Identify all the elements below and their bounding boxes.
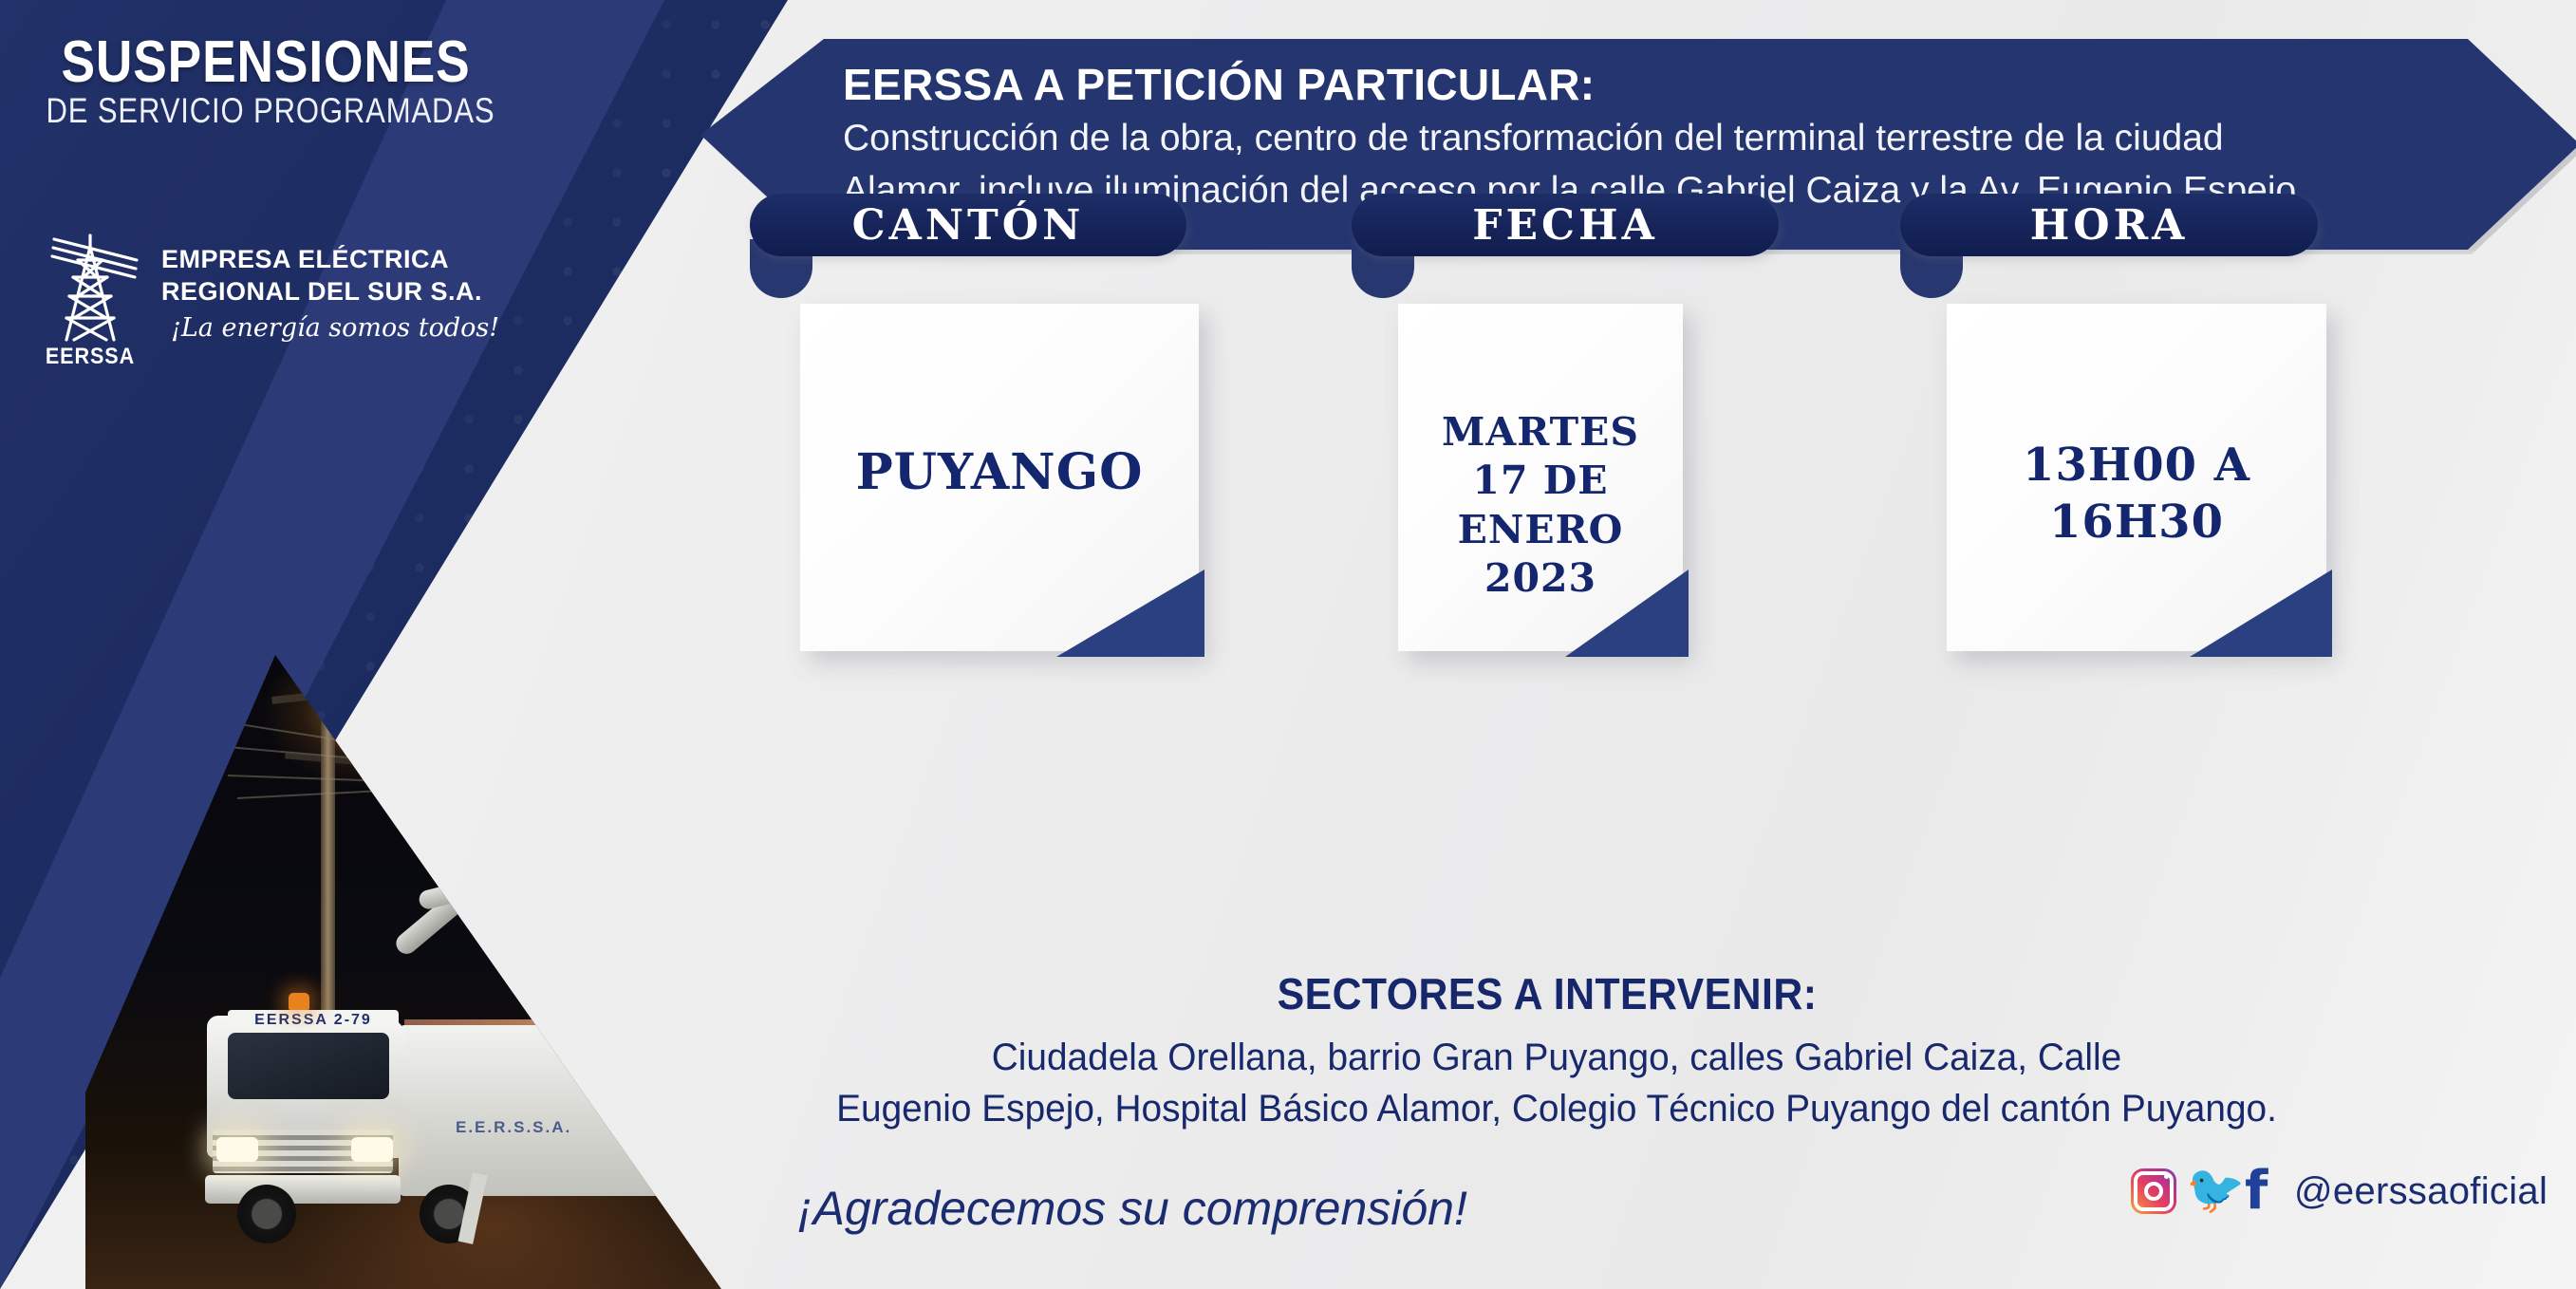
sectors-title: SECTORES A INTERVENIR: xyxy=(761,968,2332,1019)
truck-bumper xyxy=(205,1175,401,1204)
card-value-fecha: MARTES 17 DE ENERO 2023 xyxy=(1398,408,1683,603)
poster-canvas: E.E.R.S.S.A. EERSSA 2-79 SUSPENSIONES DE… xyxy=(0,0,2576,1289)
info-card-fecha: MARTES 17 DE ENERO 2023 xyxy=(1398,304,1683,651)
logo-company-line1: EMPRESA ELÉCTRICA xyxy=(161,245,449,274)
company-logo: EERSSA EMPRESA ELÉCTRICA REGIONAL DEL SU… xyxy=(28,228,503,380)
tab-hora[interactable]: HORA xyxy=(1900,194,2318,256)
helmet-icon xyxy=(528,765,554,780)
boom-arm-upper xyxy=(418,860,551,910)
social-links: 🐦 f @eerssaoficial xyxy=(2131,1168,2548,1215)
logo-mark-text: EERSSA xyxy=(38,344,142,370)
logo-tagline: ¡La energía somos todos! xyxy=(171,313,499,343)
banner-title: EERSSA A PETICIÓN PARTICULAR: xyxy=(843,58,2513,111)
info-card-hora: 13H00 A 16H30 xyxy=(1947,304,2326,651)
truck-wheel xyxy=(237,1185,296,1243)
tab-fecha[interactable]: FECHA xyxy=(1352,194,1779,256)
street-lamp-icon xyxy=(448,710,480,725)
tab-label-canton: CANTÓN xyxy=(750,201,1186,250)
tab-label-fecha: FECHA xyxy=(1352,201,1779,250)
warning-beacon-icon xyxy=(289,993,309,1010)
thanks-message: ¡Agradecemos su comprensión! xyxy=(797,1181,1467,1236)
sectors-line-2: Eugenio Espejo, Hospital Básico Alamor, … xyxy=(746,1084,2366,1134)
lineman-worker xyxy=(524,775,558,820)
card-value-hora: 13H00 A 16H30 xyxy=(1928,437,2345,551)
power-line-icon xyxy=(228,775,551,788)
truck-service-body: E.E.R.S.S.A. xyxy=(399,1025,683,1196)
logo-company-line2: REGIONAL DEL SUR S.A. xyxy=(161,277,482,307)
banner-line-1: Construcción de la obra, centro de trans… xyxy=(843,115,2513,163)
twitter-icon[interactable]: 🐦 xyxy=(2186,1168,2235,1214)
bucket-basket xyxy=(505,814,577,896)
truck-body-label: E.E.R.S.S.A. xyxy=(456,1118,571,1137)
truck-windshield xyxy=(228,1033,389,1099)
power-line-icon xyxy=(228,746,531,775)
power-line-icon xyxy=(228,721,510,768)
instagram-icon[interactable] xyxy=(2131,1168,2176,1214)
card-corner-fold xyxy=(2190,570,2332,657)
headlight-icon xyxy=(351,1137,393,1162)
power-line-icon xyxy=(237,781,551,799)
poster-subtitle: DE SERVICIO PROGRAMADAS xyxy=(44,91,498,131)
left-brand-panel: E.E.R.S.S.A. EERSSA 2-79 SUSPENSIONES DE… xyxy=(0,0,854,1289)
tab-canton[interactable]: CANTÓN xyxy=(750,194,1186,256)
card-value-canton: PUYANGO xyxy=(800,441,1199,503)
social-handle: @eerssaoficial xyxy=(2294,1170,2548,1213)
headlight-icon xyxy=(216,1137,258,1162)
poster-title: SUSPENSIONES xyxy=(37,28,495,96)
boom-arm xyxy=(392,826,544,958)
transmission-tower-icon xyxy=(38,228,142,351)
sectors-line-1: Ciudadela Orellana, barrio Gran Puyango,… xyxy=(746,1033,2366,1083)
facebook-icon[interactable]: f xyxy=(2245,1168,2279,1215)
truck-roof-label: EERSSA 2-79 xyxy=(228,1010,399,1031)
info-card-canton: PUYANGO xyxy=(800,304,1199,651)
pole-crossarm-lower-icon xyxy=(285,753,475,775)
tab-label-hora: HORA xyxy=(1900,201,2318,250)
card-corner-fold xyxy=(1056,570,1204,657)
